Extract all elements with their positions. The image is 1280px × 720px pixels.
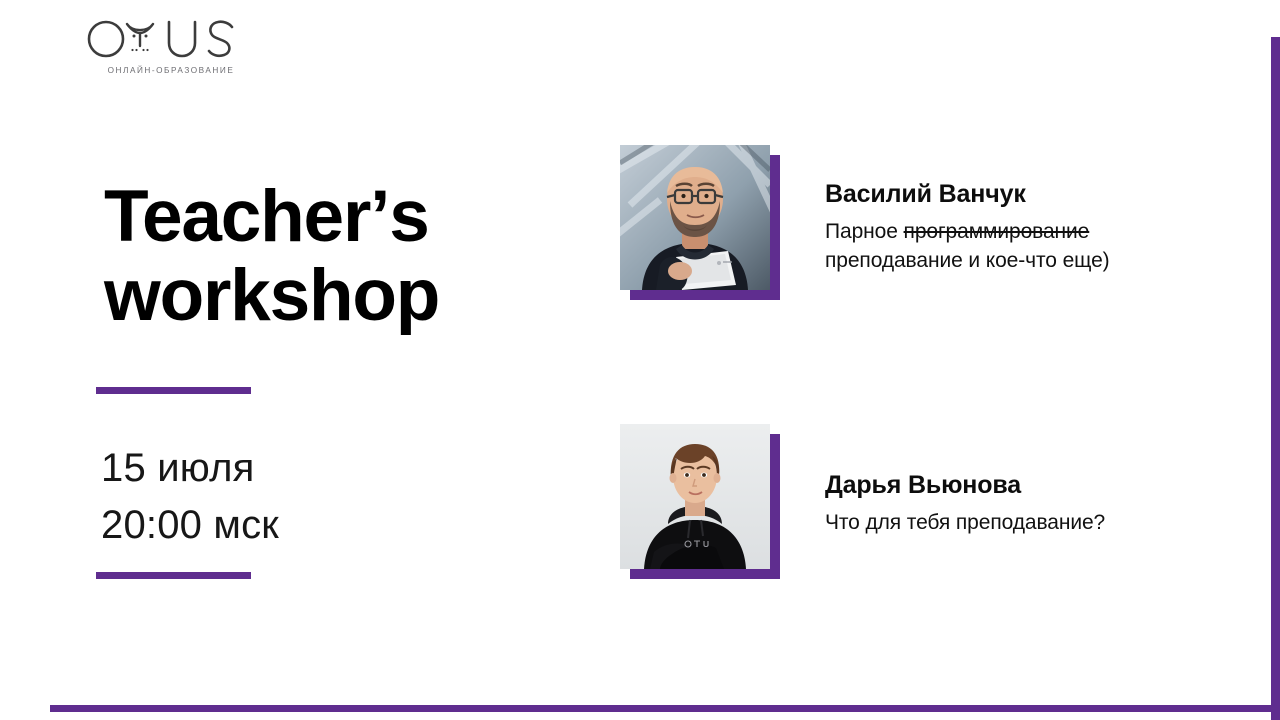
speaker-photo-frame bbox=[620, 145, 780, 300]
event-date: 15 июля bbox=[101, 440, 279, 497]
speaker-desc-part2: преподавание и кое-что еще) bbox=[825, 249, 1110, 272]
otus-logo-icon bbox=[86, 16, 241, 62]
speaker-photo-darya bbox=[620, 424, 770, 569]
event-time: 20:00 мск bbox=[101, 497, 279, 554]
event-datetime: 15 июля 20:00 мск bbox=[101, 440, 279, 554]
page-title: Teacherʼs workshop bbox=[104, 178, 574, 336]
slide-border-right bbox=[1271, 37, 1280, 720]
speaker-photo-frame bbox=[620, 424, 780, 579]
otus-logo-tagline: ОНЛАЙН-ОБРАЗОВАНИЕ bbox=[86, 66, 256, 75]
speaker-name: Василий Ванчук bbox=[825, 180, 1220, 209]
avatar bbox=[620, 424, 770, 569]
page-title-line2: workshop bbox=[104, 257, 574, 336]
speaker-desc-struck: программирование bbox=[904, 220, 1090, 243]
page-title-line1: Teacherʼs bbox=[104, 178, 574, 257]
accent-rule-bottom bbox=[96, 572, 251, 579]
speaker-desc-part1: Что для тебя преподавание? bbox=[825, 511, 1105, 534]
speaker-name: Дарья Вьюнова bbox=[825, 471, 1220, 500]
presentation-slide: ОНЛАЙН-ОБРАЗОВАНИЕ Teacherʼs workshop 15… bbox=[0, 0, 1280, 720]
otus-logo: ОНЛАЙН-ОБРАЗОВАНИЕ bbox=[86, 16, 256, 75]
accent-rule-top bbox=[96, 387, 251, 394]
avatar bbox=[620, 145, 770, 290]
slide-border-bottom bbox=[50, 705, 1280, 712]
speaker-description: Что для тебя преподавание? bbox=[825, 509, 1220, 538]
speaker-photo-vasiliy bbox=[620, 145, 770, 290]
speaker-info: Василий Ванчук Парное программирование п… bbox=[825, 180, 1220, 275]
speaker-description: Парное программирование преподавание и к… bbox=[825, 218, 1220, 275]
speaker-info: Дарья Вьюнова Что для тебя преподавание? bbox=[825, 471, 1220, 538]
speaker-desc-part1: Парное bbox=[825, 220, 904, 243]
